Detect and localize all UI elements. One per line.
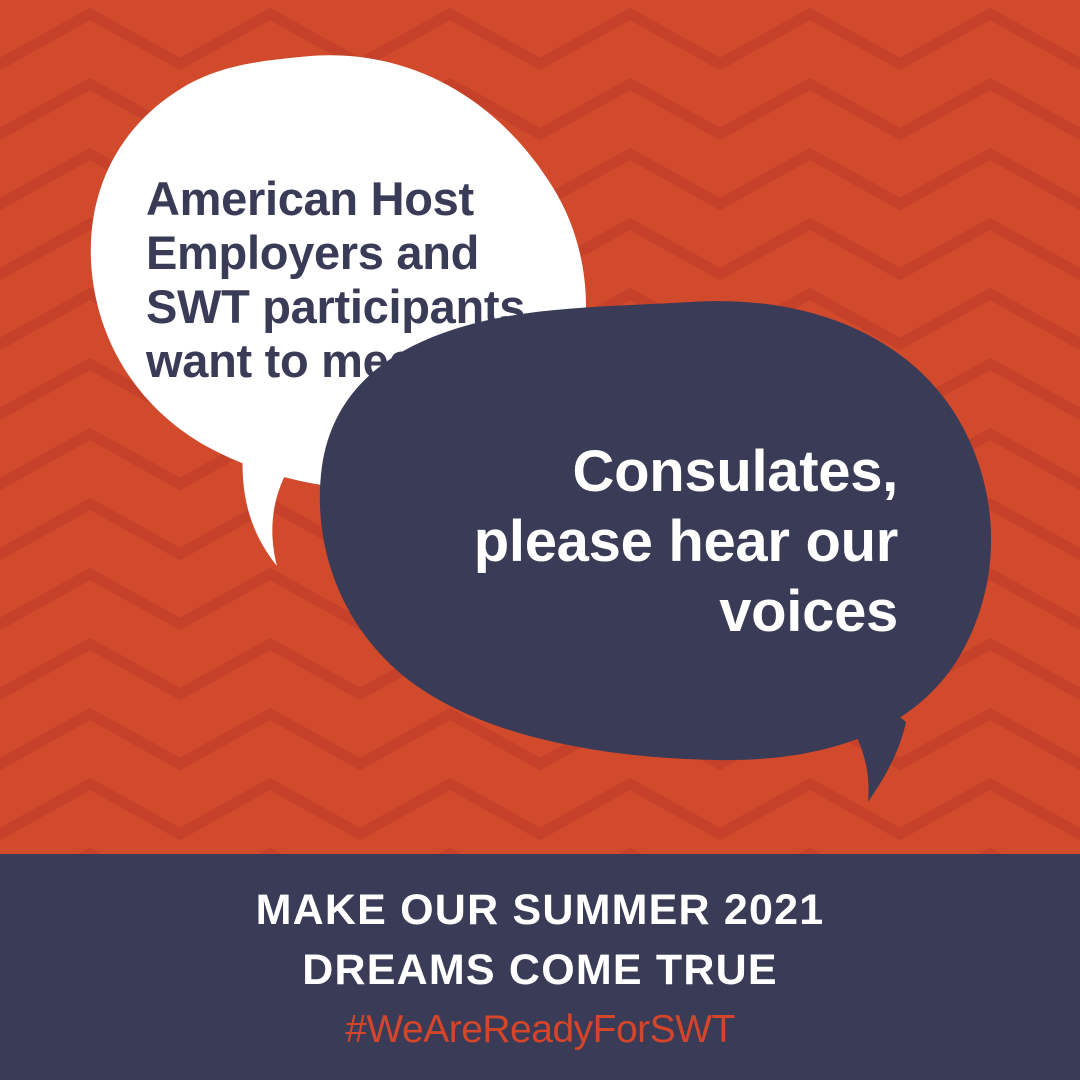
banner-hashtag: #WeAreReadyForSWT <box>0 1006 1080 1054</box>
dark-bubble-message: Consulates, please hear our voices <box>370 437 898 647</box>
white-bubble-message: American Host Employers and SWT particip… <box>146 172 566 388</box>
bottom-banner: MAKE OUR SUMMER 2021 DREAMS COME TRUE #W… <box>0 854 1080 1080</box>
banner-headline: MAKE OUR SUMMER 2021 DREAMS COME TRUE <box>0 880 1080 1000</box>
social-media-poster: American Host Employers and SWT particip… <box>0 0 1080 1080</box>
